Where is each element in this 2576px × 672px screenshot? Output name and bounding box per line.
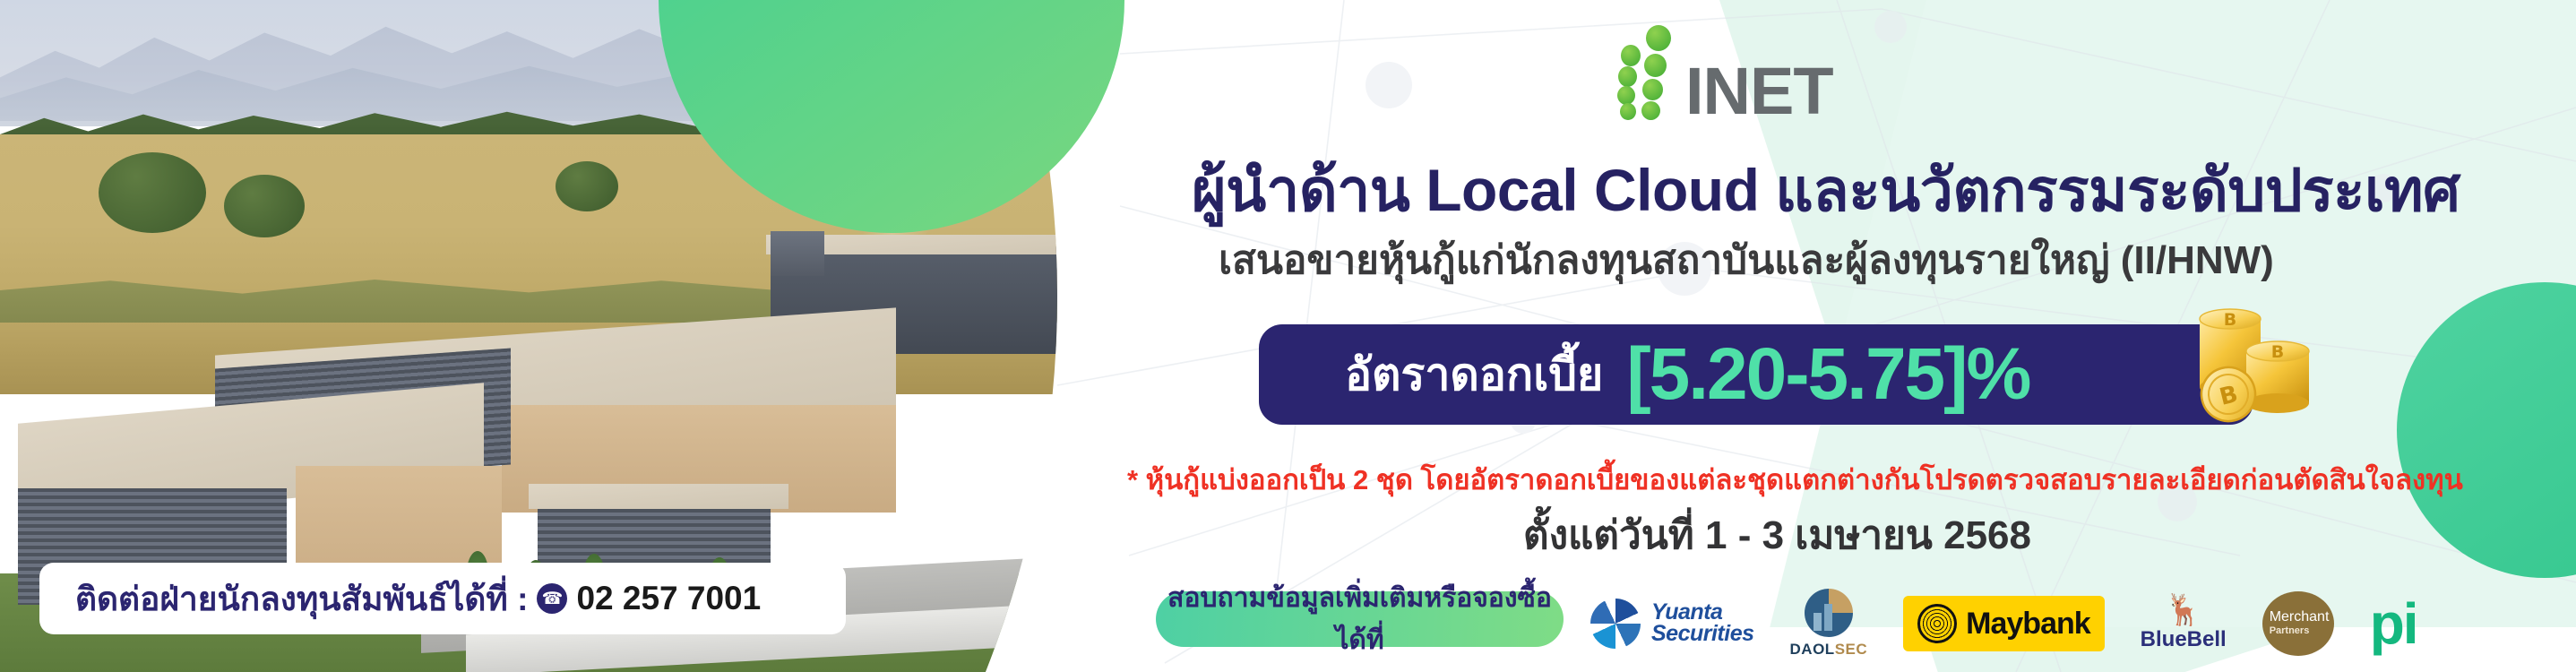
inet-logo: INET [1608, 20, 1833, 120]
partner-logo-bluebell[interactable]: 🦌 BlueBell [2141, 595, 2227, 652]
yuanta-line2: Securities [1651, 621, 1754, 646]
interest-rate-value: [5.20-5.75]% [1626, 338, 2029, 411]
yuanta-star-icon [1590, 599, 1641, 649]
bluebell-wordmark: BlueBell [2141, 627, 2227, 652]
phone-icon: ☎ [537, 583, 567, 614]
daol-wordmark: DAOLSEC [1790, 641, 1868, 659]
pi-wordmark-icon: pi [2370, 602, 2417, 645]
partner-logos: Yuanta Securities DAOLSEC Maybank 🦌 Blue… [1590, 581, 2417, 667]
svg-text:B: B [2224, 310, 2236, 330]
partner-logo-yuanta[interactable]: Yuanta Securities [1590, 599, 1754, 649]
partner-logo-merchant-partners[interactable]: Merchant Partners [2262, 591, 2334, 656]
svg-text:B: B [2271, 342, 2284, 362]
inet-logo-text: INET [1685, 63, 1833, 120]
partner-logo-maybank[interactable]: Maybank [1903, 596, 2105, 651]
page-title: ผู้นำด้าน Local Cloud และนวัตกรรมระดับปร… [1192, 143, 2518, 237]
contact-phone-number[interactable]: 02 257 7001 [576, 580, 761, 617]
disclaimer-text: * หุ้นกู้แบ่งออกเป็น 2 ชุด โดยอัตราดอกเบ… [1127, 457, 2561, 502]
promo-banner: INET ผู้นำด้าน Local Cloud และนวัตกรรมระ… [0, 0, 2576, 672]
partner-logo-pi[interactable]: pi [2370, 602, 2417, 645]
merchant-line2: Partners [2270, 625, 2310, 637]
inet-dots-logo-icon [1608, 20, 1678, 120]
daol-donut-icon [1805, 589, 1853, 637]
bluebell-deer-icon: 🦌 [2165, 595, 2202, 625]
contact-label: ติดต่อฝ่ายนักลงทุนสัมพันธ์ได้ที่ : [75, 573, 528, 625]
offering-date-text: ตั้งแต่วันที่ 1 - 3 เมษายน 2568 [1523, 504, 2031, 566]
daol-sub: SEC [1835, 641, 1867, 658]
maybank-tiger-icon [1917, 604, 1957, 643]
maybank-wordmark: Maybank [1966, 607, 2090, 642]
page-subtitle: เสนอขายหุ้นกู้แก่นักลงทุนสถาบันและผู้ลงท… [1219, 228, 2491, 291]
yuanta-wordmark: Yuanta Securities [1651, 602, 1754, 645]
interest-rate-box: อัตราดอกเบี้ย [5.20-5.75]% [1259, 324, 2253, 425]
inquiry-cta-button[interactable]: สอบถามข้อมูลเพิ่มเติมหรือจองซื้อได้ที่ [1156, 591, 1564, 647]
daol-main: DAOL [1790, 641, 1835, 658]
partner-logo-daol[interactable]: DAOLSEC [1790, 589, 1868, 659]
interest-rate-label: อัตราดอกเบี้ย [1345, 340, 1603, 410]
merchant-line1: Merchant [2270, 610, 2330, 625]
contact-box: ติดต่อฝ่ายนักลงทุนสัมพันธ์ได้ที่ : ☎ 02 … [39, 563, 846, 634]
gold-coins-icon: B B B [2182, 296, 2343, 430]
